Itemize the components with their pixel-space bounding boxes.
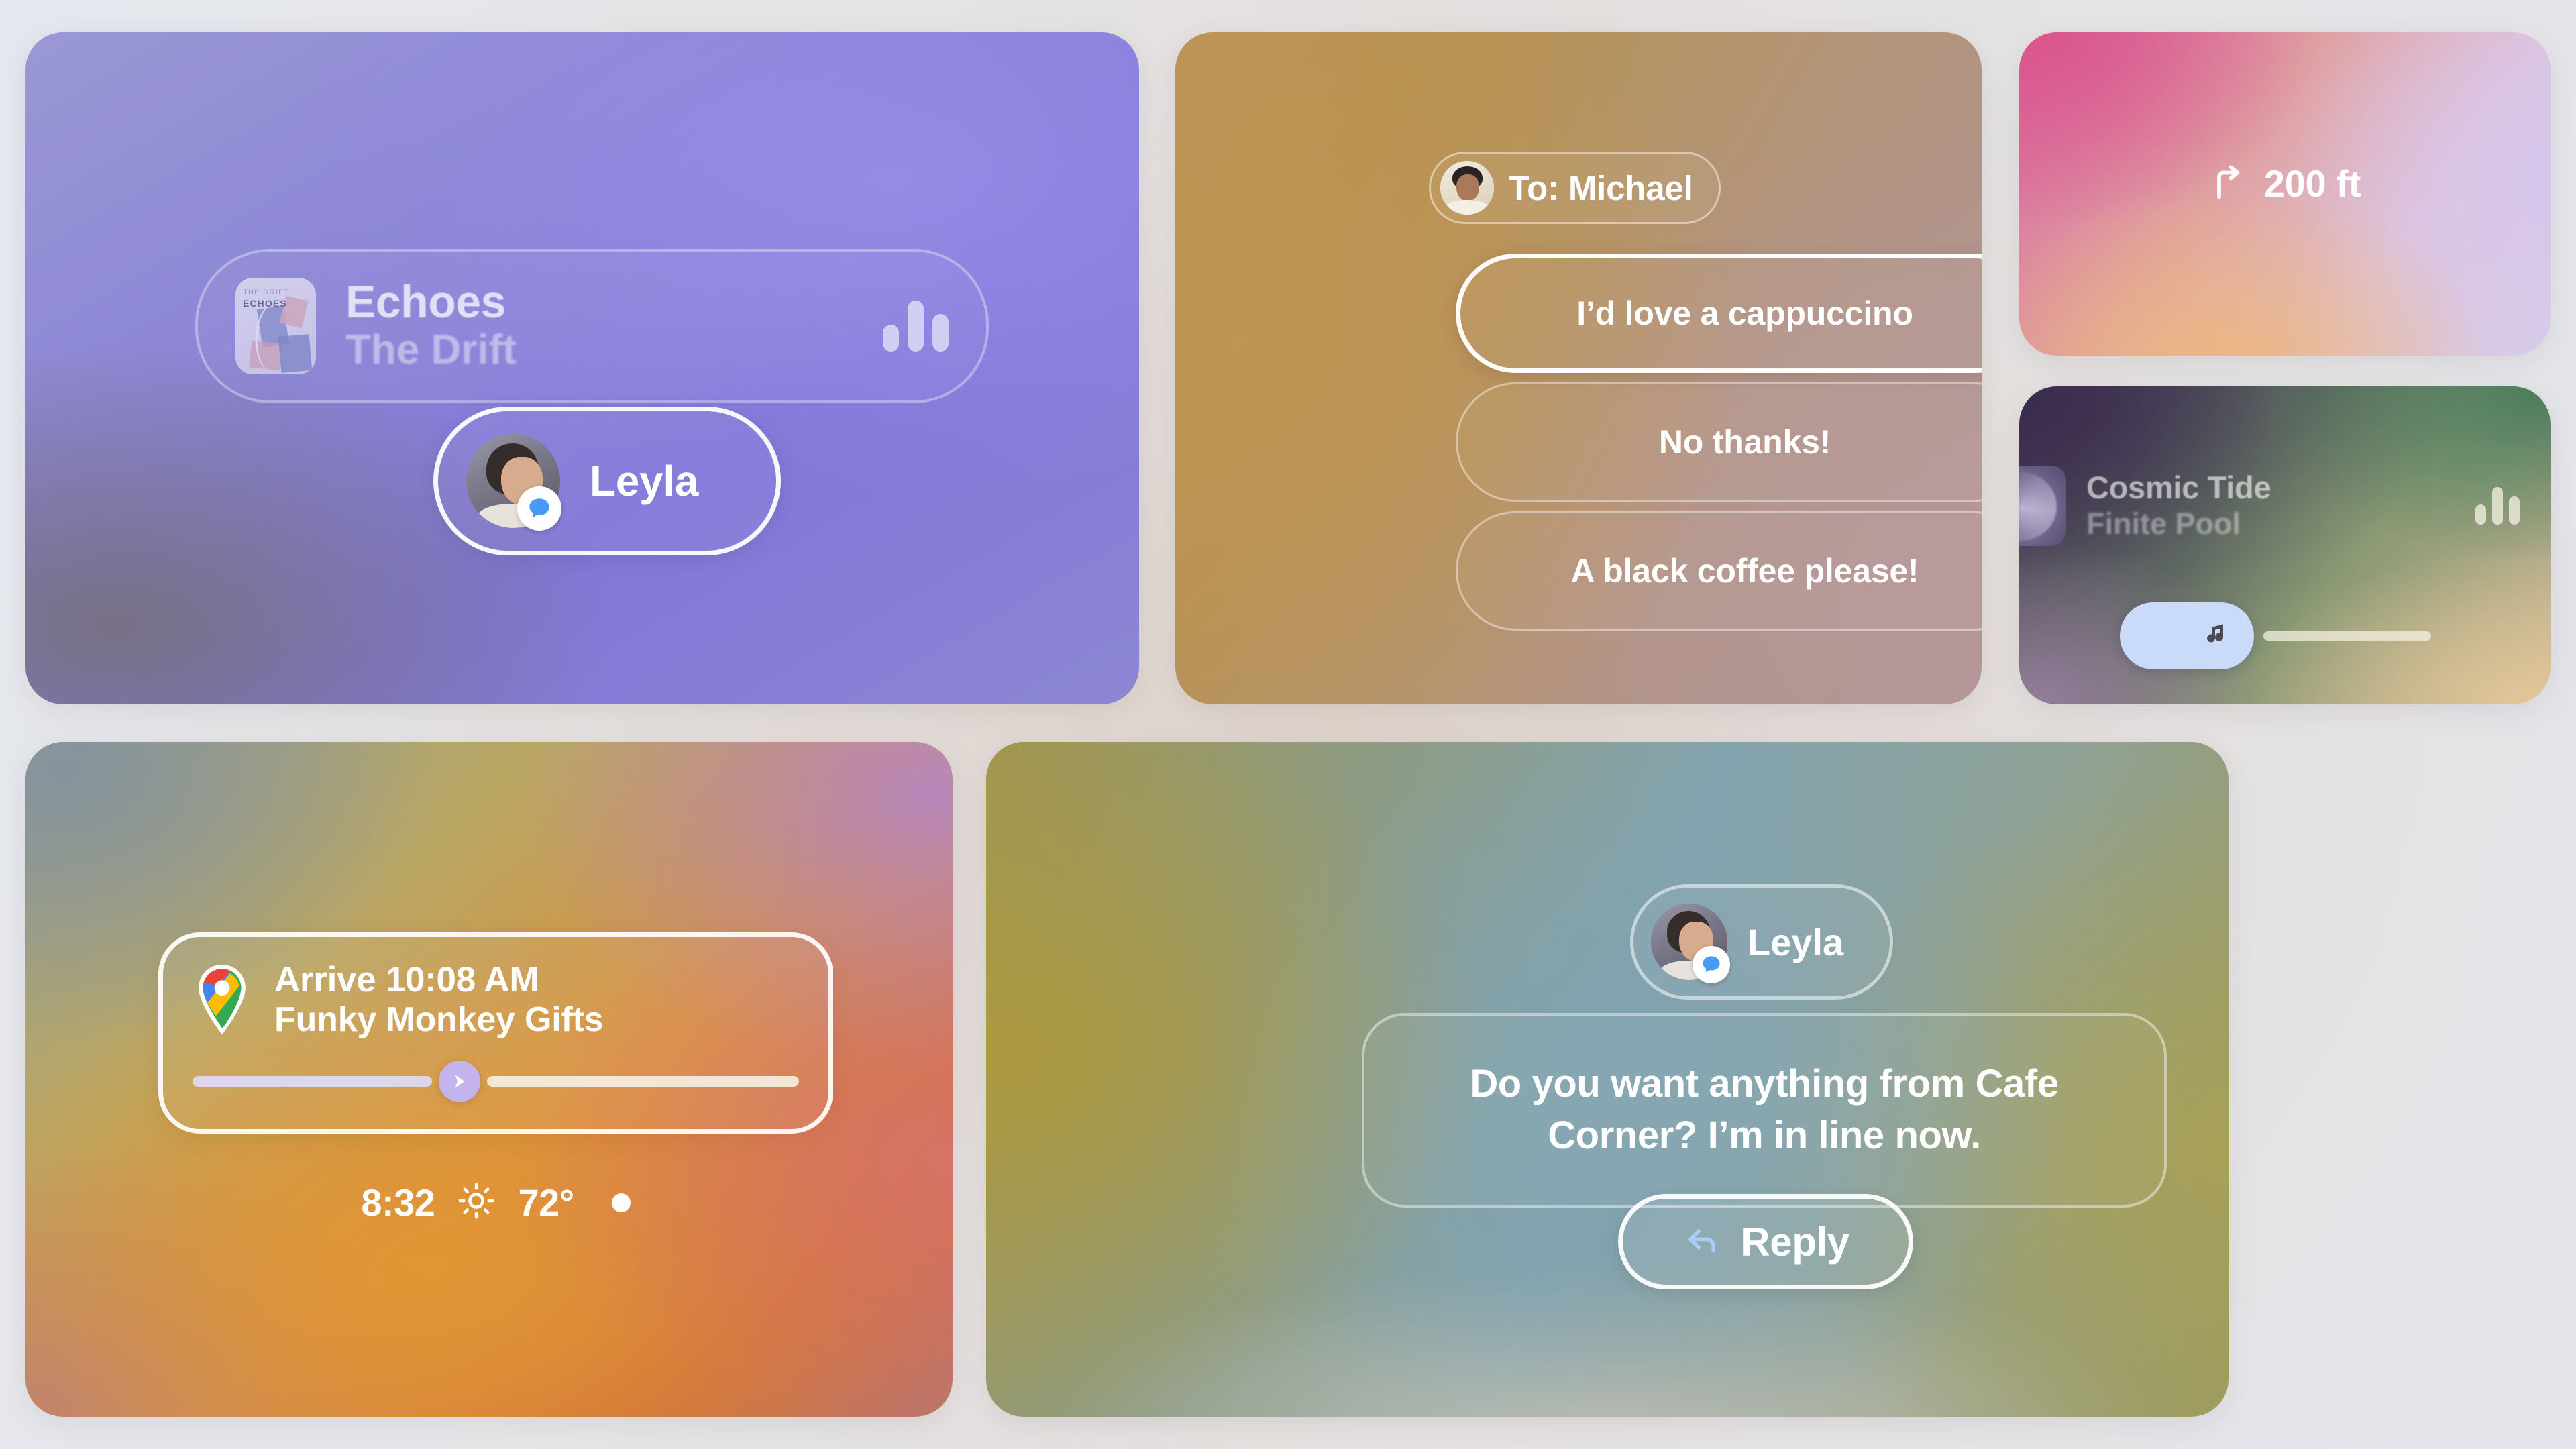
track-artist: The Drift <box>345 328 883 373</box>
reply-option-label: A black coffee please! <box>1571 551 1919 590</box>
sender-chip-leyla[interactable]: Leyla <box>1630 884 1893 1000</box>
google-maps-pin-icon <box>193 963 252 1038</box>
route-progress-elapsed <box>193 1076 432 1087</box>
sun-icon <box>458 1182 495 1223</box>
avatar <box>1440 161 1494 215</box>
clock-time: 8:32 <box>361 1181 435 1224</box>
contact-name: Leyla <box>590 456 698 506</box>
route-progress-remaining <box>487 1076 799 1087</box>
track-title: Cosmic Tide <box>2086 471 2475 505</box>
eta-arrival-time: Arrive 10:08 AM <box>274 960 603 1000</box>
mini-player-card[interactable]: THEDRIFT Cosmic Tide Finite Pool <box>2019 386 2551 704</box>
recipient-label: To: Michael <box>1509 168 1693 208</box>
progress-track[interactable] <box>2263 631 2431 641</box>
message-body: Do you want anything from Cafe Corner? I… <box>1407 1059 2121 1161</box>
reply-option-2[interactable]: A black coffee please! <box>1456 511 1982 631</box>
navigation-arrow-icon[interactable] <box>439 1061 480 1102</box>
mini-player-row[interactable]: THEDRIFT Cosmic Tide Finite Pool <box>2019 466 2551 546</box>
chat-bubble-icon <box>1693 946 1730 983</box>
now-playing-card[interactable]: THE DRIFT ECHOES Echoes The Drift <box>25 32 1139 704</box>
reply-arrow-icon <box>1682 1222 1723 1263</box>
widget-dashboard: THE DRIFT ECHOES Echoes The Drift <box>0 0 2576 1449</box>
reply-button[interactable]: Reply <box>1618 1194 1913 1289</box>
suggested-replies-card[interactable]: To: Michael I’d love a cappuccino No tha… <box>1175 32 1982 704</box>
eta-destination: Funky Monkey Gifts <box>274 1000 603 1040</box>
equalizer-bars-icon <box>2475 487 2520 525</box>
recipient-chip[interactable]: To: Michael <box>1429 152 1721 224</box>
eta-header: Arrive 10:08 AM Funky Monkey Gifts <box>193 960 799 1040</box>
reply-option-0[interactable]: I’d love a cappuccino <box>1456 254 1982 373</box>
navigation-distance-card[interactable]: 200 ft <box>2019 32 2551 356</box>
album-art-thumbnail: THE DRIFT ECHOES <box>235 278 316 374</box>
turn-right-icon <box>2209 161 2249 206</box>
album-art-title: ECHOES <box>243 298 289 310</box>
track-metadata: Echoes The Drift <box>345 279 883 373</box>
avatar <box>1651 904 1727 980</box>
eta-text-block: Arrive 10:08 AM Funky Monkey Gifts <box>274 960 603 1040</box>
track-metadata: Cosmic Tide Finite Pool <box>2086 471 2475 541</box>
avatar <box>466 434 560 528</box>
contact-chip-leyla[interactable]: Leyla <box>433 407 781 555</box>
now-playing-pill[interactable]: THE DRIFT ECHOES Echoes The Drift <box>195 249 989 403</box>
track-title: Echoes <box>345 279 883 325</box>
equalizer-bars-icon <box>883 301 949 352</box>
music-note-pill[interactable] <box>2120 602 2254 669</box>
chat-bubble-icon <box>517 486 561 531</box>
album-art-subtitle: THE DRIFT <box>243 288 289 298</box>
reply-option-label: No thanks! <box>1659 423 1831 462</box>
dot-indicator-icon <box>612 1193 631 1212</box>
music-note-icon <box>2203 616 2235 657</box>
sender-name: Leyla <box>1748 920 1843 964</box>
message-bubble: Do you want anything from Cafe Corner? I… <box>1362 1013 2167 1207</box>
temperature-label: 72° <box>518 1181 574 1224</box>
reply-option-1[interactable]: No thanks! <box>1456 382 1982 502</box>
maneuver-row: 200 ft <box>2019 161 2551 206</box>
distance-label: 200 ft <box>2264 162 2361 205</box>
reply-button-label: Reply <box>1741 1219 1849 1265</box>
eta-pill[interactable]: Arrive 10:08 AM Funky Monkey Gifts <box>158 932 833 1134</box>
reply-option-label: I’d love a cappuccino <box>1576 294 1913 333</box>
route-progress-slider[interactable] <box>193 1061 799 1101</box>
track-artist: Finite Pool <box>2086 507 2475 541</box>
album-art-thumbnail: THEDRIFT <box>2019 466 2066 546</box>
mini-player-scrubber[interactable] <box>2120 602 2431 669</box>
status-row: 8:32 72° <box>158 1181 833 1224</box>
